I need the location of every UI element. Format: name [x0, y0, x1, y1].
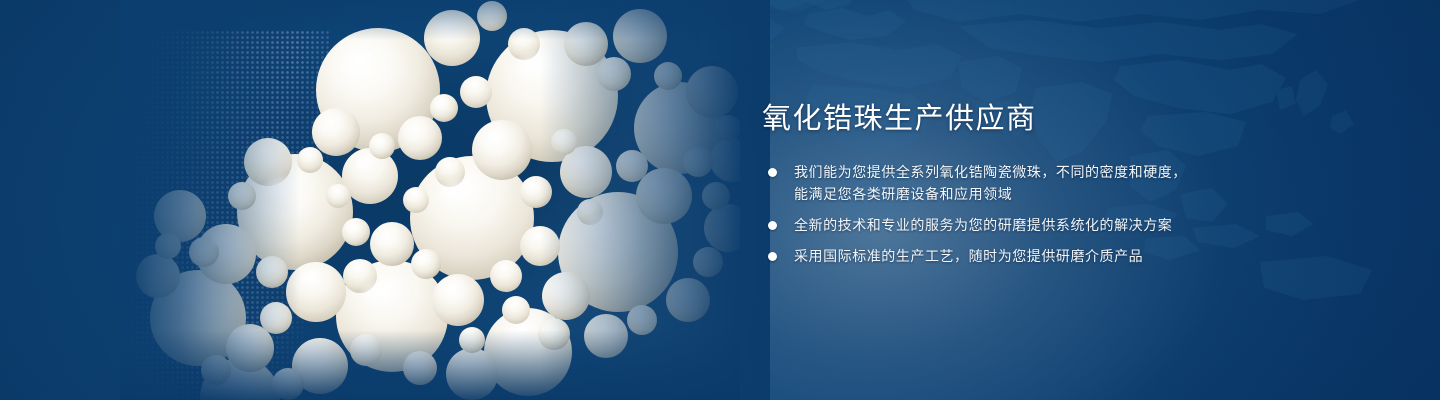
banner-copy: 氧化锆珠生产供应商 我们能为您提供全系列氧化锆陶瓷微珠，不同的密度和硬度， 能满… — [762, 104, 1382, 267]
bead-cluster — [120, 0, 740, 400]
bullet-text: 全新的技术和专业的服务为您的研磨提供系统化的解决方案 — [794, 214, 1382, 236]
banner-bullet-list: 我们能为您提供全系列氧化锆陶瓷微珠，不同的密度和硬度， 能满足您各类研磨设备和应… — [762, 161, 1382, 267]
banner-headline: 氧化锆珠生产供应商 — [762, 104, 1382, 135]
promo-banner: 氧化锆珠生产供应商 我们能为您提供全系列氧化锆陶瓷微珠，不同的密度和硬度， 能满… — [0, 0, 1440, 400]
bullet-text: 采用国际标准的生产工艺，随时为您提供研磨介质产品 — [794, 245, 1382, 267]
bullet-text: 能满足您各类研磨设备和应用领域 — [794, 183, 1382, 205]
bullet-dot-icon — [768, 252, 777, 261]
bullet-text: 我们能为您提供全系列氧化锆陶瓷微珠，不同的密度和硬度， — [794, 161, 1382, 183]
bullet-item-1: 我们能为您提供全系列氧化锆陶瓷微珠，不同的密度和硬度， 能满足您各类研磨设备和应… — [762, 161, 1382, 205]
zirconia-beads-photo — [120, 0, 740, 400]
bullet-item-2: 全新的技术和专业的服务为您的研磨提供系统化的解决方案 — [762, 214, 1382, 236]
bullet-dot-icon — [768, 168, 777, 177]
bullet-item-3: 采用国际标准的生产工艺，随时为您提供研磨介质产品 — [762, 245, 1382, 267]
bullet-dot-icon — [768, 221, 777, 230]
